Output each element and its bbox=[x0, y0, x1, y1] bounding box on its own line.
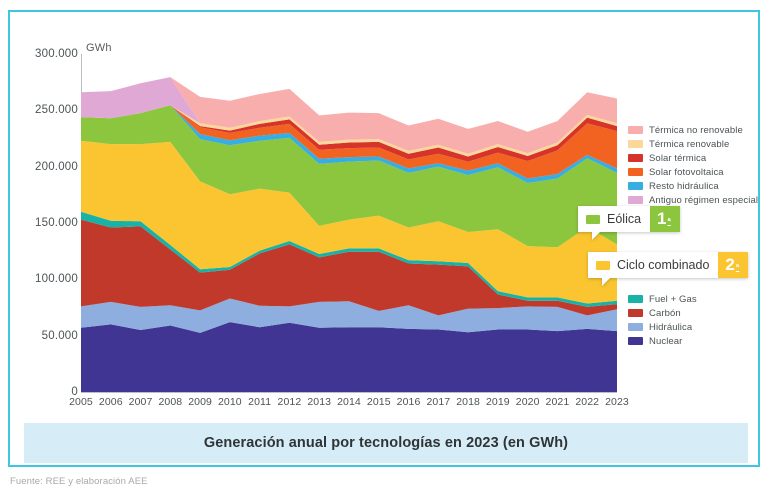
callout-ciclo-combinado[interactable]: Ciclo combinado 2ª bbox=[588, 252, 748, 278]
x-tick-label: 2010 bbox=[218, 396, 242, 408]
x-tick-label: 2017 bbox=[426, 396, 450, 408]
x-tick-label: 2012 bbox=[278, 396, 302, 408]
y-tick-label: 100.000 bbox=[14, 273, 78, 285]
y-tick-label: 200.000 bbox=[14, 161, 78, 173]
x-tick-label: 2019 bbox=[486, 396, 510, 408]
y-tick-label: 300.000 bbox=[14, 48, 78, 60]
legend-lower: Fuel + GasCarbónHidráulicaNuclear bbox=[628, 293, 697, 347]
source-note: Fuente: REE y elaboración AEE bbox=[10, 476, 148, 487]
chart-card: GWh 050.000100.000150.000200.000250.0003… bbox=[8, 10, 760, 467]
legend-upper-color-swatch bbox=[628, 126, 643, 134]
callout-eolica-color-chip bbox=[586, 215, 600, 224]
x-tick-label: 2005 bbox=[69, 396, 93, 408]
x-axis-line bbox=[81, 392, 617, 393]
x-tick-label: 2009 bbox=[188, 396, 212, 408]
callout-eolica-rank: 1ª bbox=[650, 206, 680, 232]
callout-eolica-pointer bbox=[592, 231, 601, 240]
x-tick-label: 2016 bbox=[397, 396, 421, 408]
legend-upper-label: Solar térmica bbox=[649, 153, 706, 164]
legend-upper-label: Resto hidráulica bbox=[649, 181, 719, 192]
stacked-area-chart bbox=[81, 54, 617, 392]
legend-upper-label: Solar fotovoltaica bbox=[649, 167, 724, 178]
legend-upper-item[interactable]: Solar térmica bbox=[628, 152, 758, 164]
legend-lower-label: Carbón bbox=[649, 308, 681, 319]
legend-lower-color-swatch bbox=[628, 323, 643, 331]
y-tick-label: 250.000 bbox=[14, 104, 78, 116]
legend-lower-color-swatch bbox=[628, 309, 643, 317]
callout-eolica-rank-suffix: ª bbox=[668, 217, 671, 226]
x-tick-label: 2013 bbox=[307, 396, 331, 408]
callout-eolica-label: Eólica bbox=[607, 212, 641, 226]
x-tick-label: 2018 bbox=[456, 396, 480, 408]
legend-lower-item[interactable]: Fuel + Gas bbox=[628, 293, 697, 305]
legend-lower-color-swatch bbox=[628, 295, 643, 303]
legend-lower-item[interactable]: Carbón bbox=[628, 307, 697, 319]
legend-upper-color-swatch bbox=[628, 140, 643, 148]
legend-upper-item[interactable]: Solar fotovoltaica bbox=[628, 166, 758, 178]
y-tick-label: 50.000 bbox=[14, 330, 78, 342]
y-tick-label: 150.000 bbox=[14, 217, 78, 229]
callout-eolica[interactable]: Eólica 1ª bbox=[578, 206, 680, 232]
legend-upper-label: Térmica no renovable bbox=[649, 125, 743, 136]
x-axis-tick-labels: 2005200620072008200920102011201220132014… bbox=[81, 396, 617, 416]
x-tick-label: 2014 bbox=[337, 396, 361, 408]
legend-upper-color-swatch bbox=[628, 154, 643, 162]
callout-eolica-rank-number: 1 bbox=[657, 206, 666, 232]
legend-lower-item[interactable]: Nuclear bbox=[628, 335, 697, 347]
x-tick-label: 2022 bbox=[575, 396, 599, 408]
chart-title-text: Generación anual por tecnologías en 2023… bbox=[204, 435, 568, 451]
x-tick-label: 2015 bbox=[367, 396, 391, 408]
legend-upper-item[interactable]: Térmica no renovable bbox=[628, 124, 758, 136]
legend-upper-label: Térmica renovable bbox=[649, 139, 729, 150]
legend-upper-color-swatch bbox=[628, 182, 643, 190]
callout-eolica-body: Eólica bbox=[578, 206, 650, 232]
x-tick-label: 2021 bbox=[546, 396, 570, 408]
legend-upper-item[interactable]: Térmica renovable bbox=[628, 138, 758, 150]
callout-ciclo-rank-suffix: ª bbox=[736, 263, 739, 272]
legend-upper-color-swatch bbox=[628, 196, 643, 204]
callout-ciclo-rank-number: 2 bbox=[725, 252, 734, 278]
legend-upper-label: Antiguo régimen especial bbox=[649, 195, 758, 206]
callout-ciclo-rank: 2ª bbox=[718, 252, 748, 278]
x-tick-label: 2023 bbox=[605, 396, 629, 408]
x-tick-label: 2006 bbox=[99, 396, 123, 408]
legend-upper-color-swatch bbox=[628, 168, 643, 176]
x-tick-label: 2011 bbox=[248, 396, 271, 408]
legend-lower-label: Fuel + Gas bbox=[649, 294, 697, 305]
x-tick-label: 2007 bbox=[129, 396, 153, 408]
legend-upper: Térmica no renovableTérmica renovableSol… bbox=[628, 124, 758, 206]
callout-ciclo-label: Ciclo combinado bbox=[617, 258, 709, 272]
callout-ciclo-color-chip bbox=[596, 261, 610, 270]
legend-upper-item[interactable]: Antiguo régimen especial bbox=[628, 194, 758, 206]
callout-ciclo-body: Ciclo combinado bbox=[588, 252, 718, 278]
y-axis-tick-labels: 050.000100.000150.000200.000250.000300.0… bbox=[10, 12, 78, 407]
chart-title-banner: Generación anual por tecnologías en 2023… bbox=[24, 423, 748, 463]
screenshot-root: GWh 050.000100.000150.000200.000250.0003… bbox=[0, 0, 768, 504]
legend-lower-color-swatch bbox=[628, 337, 643, 345]
callout-ciclo-pointer bbox=[602, 277, 611, 286]
x-tick-label: 2020 bbox=[516, 396, 540, 408]
x-tick-label: 2008 bbox=[158, 396, 182, 408]
legend-lower-label: Nuclear bbox=[649, 336, 682, 347]
area-series bbox=[81, 322, 617, 392]
legend-upper-item[interactable]: Resto hidráulica bbox=[628, 180, 758, 192]
legend-lower-label: Hidráulica bbox=[649, 322, 692, 333]
legend-lower-item[interactable]: Hidráulica bbox=[628, 321, 697, 333]
y-axis-unit-label: GWh bbox=[86, 42, 112, 54]
